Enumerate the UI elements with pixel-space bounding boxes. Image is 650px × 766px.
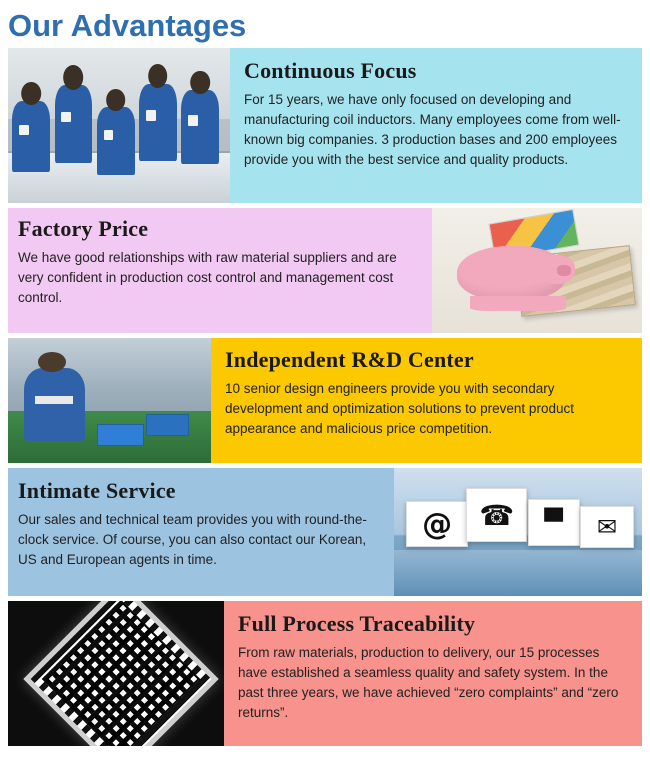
phone-icon: ☎ bbox=[466, 488, 528, 541]
panel-continuous-focus: Continuous Focus For 15 years, we have o… bbox=[230, 48, 642, 203]
photo-person bbox=[181, 90, 219, 164]
panel-full-process-traceability: Full Process Traceability From raw mater… bbox=[224, 601, 642, 746]
section-body-factory-price: We have good relationships with raw mate… bbox=[18, 248, 418, 308]
page-title: Our Advantages bbox=[0, 0, 650, 48]
photo-worker bbox=[24, 368, 85, 441]
section-heading-intimate-service: Intimate Service bbox=[18, 478, 380, 504]
section-heading-continuous-focus: Continuous Focus bbox=[244, 58, 628, 84]
photo-reflection bbox=[394, 550, 642, 596]
section-heading-full-process-traceability: Full Process Traceability bbox=[238, 611, 628, 637]
section-body-continuous-focus: For 15 years, we have only focused on de… bbox=[244, 90, 628, 170]
section-body-intimate-service: Our sales and technical team provides yo… bbox=[18, 510, 380, 570]
section-heading-factory-price: Factory Price bbox=[18, 216, 418, 242]
photo-qr-diamond bbox=[23, 601, 218, 746]
mobile-phone-icon: ▀ bbox=[528, 499, 580, 546]
advantage-row-full-process-traceability: Full Process Traceability From raw mater… bbox=[8, 601, 642, 746]
photo-person bbox=[12, 101, 50, 172]
production-line-worker-photo bbox=[8, 338, 211, 463]
photo-person bbox=[139, 84, 177, 162]
piggy-bank-money-photo bbox=[432, 208, 642, 333]
advantage-row-factory-price: Factory Price We have good relationships… bbox=[8, 208, 642, 333]
photo-person bbox=[97, 107, 135, 175]
contact-icons-cubes-photo: @ ☎ ▀ ✉ bbox=[394, 468, 642, 596]
qr-code-pendant-photo bbox=[8, 601, 224, 746]
photo-tray bbox=[97, 424, 144, 446]
section-body-full-process-traceability: From raw materials, production to delive… bbox=[238, 643, 628, 723]
section-body-independent-rd-center: 10 senior design engineers provide you w… bbox=[225, 379, 628, 439]
panel-intimate-service: Intimate Service Our sales and technical… bbox=[8, 468, 394, 596]
advantage-row-independent-rd-center: Independent R&D Center 10 senior design … bbox=[8, 338, 642, 463]
advantage-row-intimate-service: Intimate Service Our sales and technical… bbox=[8, 468, 642, 596]
section-heading-independent-rd-center: Independent R&D Center bbox=[225, 347, 628, 373]
photo-tray bbox=[146, 414, 189, 436]
photo-person bbox=[55, 85, 93, 163]
envelope-icon: ✉ bbox=[580, 506, 634, 548]
factory-workers-photo bbox=[8, 48, 230, 203]
advantage-row-continuous-focus: Continuous Focus For 15 years, we have o… bbox=[8, 48, 642, 203]
photo-piggy-bank bbox=[457, 246, 566, 301]
at-symbol-icon: @ bbox=[406, 501, 468, 547]
panel-independent-rd-center: Independent R&D Center 10 senior design … bbox=[211, 338, 642, 463]
panel-factory-price: Factory Price We have good relationships… bbox=[8, 208, 432, 333]
qr-code-icon bbox=[42, 601, 200, 746]
photo-piggy-legs bbox=[470, 296, 567, 311]
